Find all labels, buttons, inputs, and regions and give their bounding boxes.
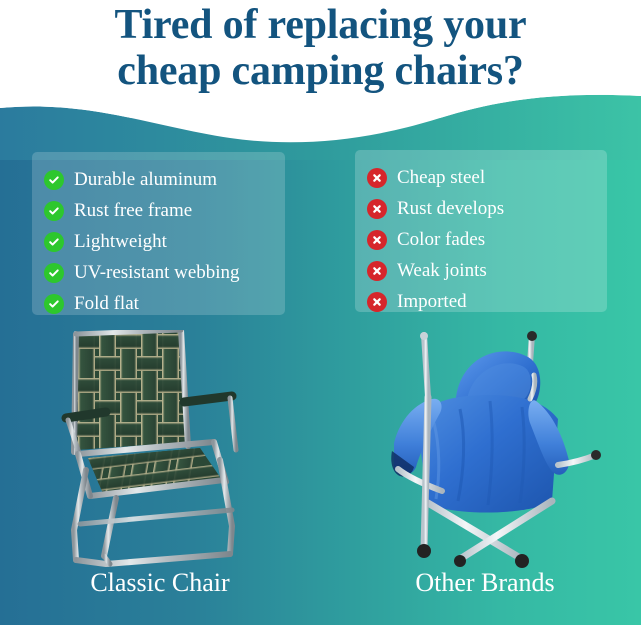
pros-item-label: Durable aluminum bbox=[74, 170, 217, 190]
check-circle-icon bbox=[44, 294, 64, 314]
cross-circle-icon bbox=[367, 261, 387, 281]
list-item: Color fades bbox=[367, 224, 593, 255]
cons-item-label: Color fades bbox=[397, 230, 485, 250]
pros-item-label: UV-resistant webbing bbox=[74, 263, 240, 283]
cross-circle-icon bbox=[367, 230, 387, 250]
cross-circle-icon bbox=[367, 292, 387, 312]
list-item: UV-resistant webbing bbox=[44, 257, 271, 288]
cons-panel: Cheap steel Rust develops Color fades We… bbox=[355, 150, 607, 312]
cons-item-label: Imported bbox=[397, 292, 467, 312]
list-item: Imported bbox=[367, 286, 593, 317]
pros-panel: Durable aluminum Rust free frame Lightwe… bbox=[32, 152, 285, 315]
other-brands-caption: Other Brands bbox=[355, 568, 615, 598]
headline-line-2: cheap camping chairs? bbox=[0, 48, 641, 94]
pros-item-label: Fold flat bbox=[74, 294, 139, 314]
pros-item-label: Rust free frame bbox=[74, 201, 192, 221]
check-circle-icon bbox=[44, 232, 64, 252]
list-item: Rust develops bbox=[367, 193, 593, 224]
cons-list: Cheap steel Rust develops Color fades We… bbox=[367, 162, 593, 317]
cons-item-label: Weak joints bbox=[397, 261, 487, 281]
list-item: Lightweight bbox=[44, 226, 271, 257]
pros-list: Durable aluminum Rust free frame Lightwe… bbox=[44, 164, 271, 319]
list-item: Rust free frame bbox=[44, 195, 271, 226]
pros-item-label: Lightweight bbox=[74, 232, 167, 252]
list-item: Fold flat bbox=[44, 288, 271, 319]
list-item: Durable aluminum bbox=[44, 164, 271, 195]
list-item: Weak joints bbox=[367, 255, 593, 286]
check-circle-icon bbox=[44, 201, 64, 221]
infographic-canvas: Tired of replacing your cheap camping ch… bbox=[0, 0, 641, 625]
check-circle-icon bbox=[44, 170, 64, 190]
check-circle-icon bbox=[44, 263, 64, 283]
cons-item-label: Rust develops bbox=[397, 199, 504, 219]
cross-circle-icon bbox=[367, 168, 387, 188]
headline-line-1: Tired of replacing your bbox=[0, 2, 641, 48]
other-brands-chair-image bbox=[382, 325, 604, 570]
cons-item-label: Cheap steel bbox=[397, 168, 485, 188]
cross-circle-icon bbox=[367, 199, 387, 219]
classic-chair-image bbox=[60, 330, 275, 570]
classic-chair-caption: Classic Chair bbox=[30, 568, 290, 598]
page-title: Tired of replacing your cheap camping ch… bbox=[0, 2, 641, 94]
list-item: Cheap steel bbox=[367, 162, 593, 193]
